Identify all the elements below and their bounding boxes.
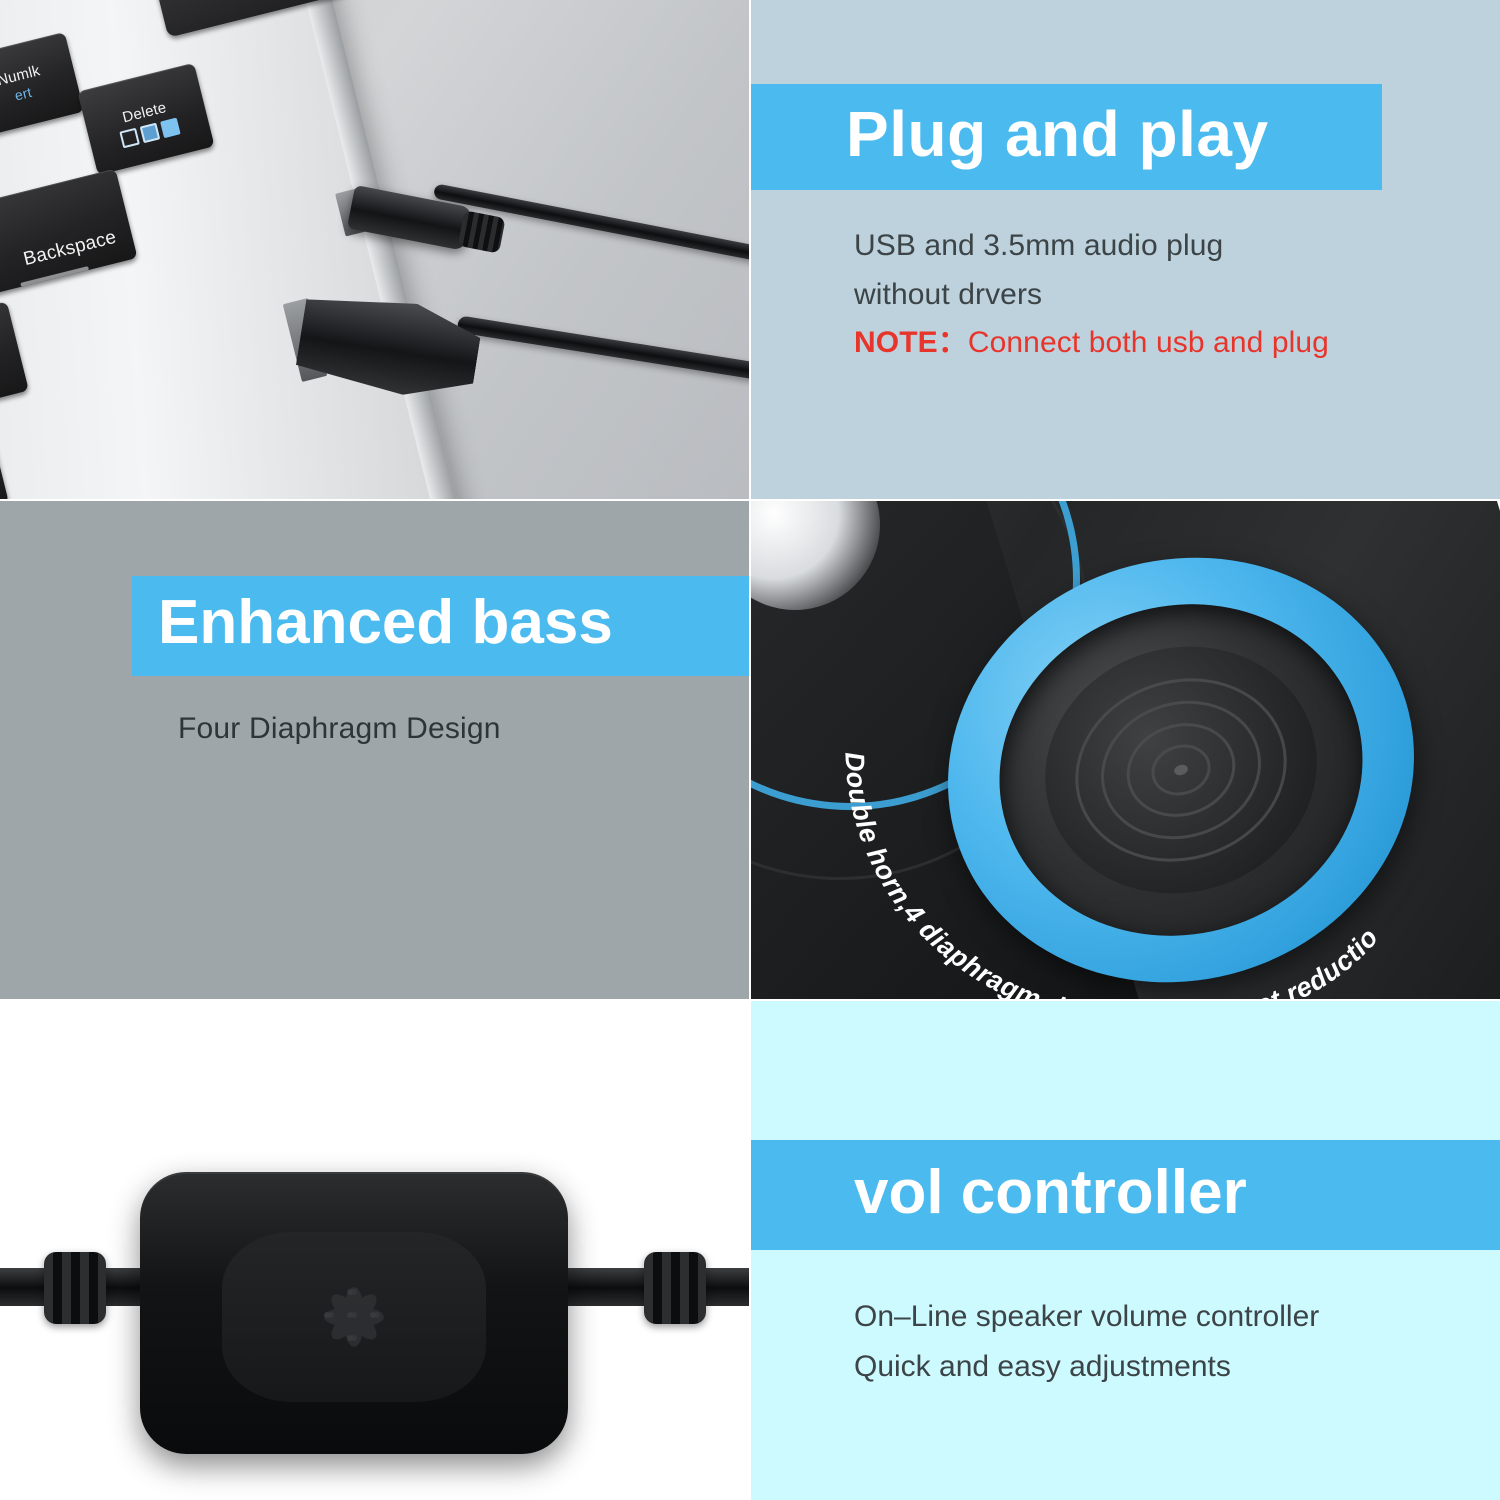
note-keyword: NOTE： <box>854 326 968 359</box>
enhanced-bass-heading: Enhanced bass <box>132 576 750 676</box>
audio-plug-strain-relief <box>458 210 506 253</box>
controller-housing <box>140 1172 568 1454</box>
panel-divider-vertical <box>749 0 751 1500</box>
photo-volume-controller <box>0 1000 750 1500</box>
square-half-icon <box>139 123 160 144</box>
panel-divider-horizontal-top <box>0 499 1500 501</box>
controller-dot-pattern-right <box>324 1289 380 1345</box>
note-text: Connect both usb and plug <box>968 326 1329 359</box>
plug-and-play-line1: USB and 3.5mm audio plug <box>854 222 1454 271</box>
feature-plug-and-play: Plug and play USB and 3.5mm audio plug w… <box>750 0 1500 500</box>
controller-face-plate <box>222 1232 486 1402</box>
vol-controller-line2: Quick and easy adjustments <box>854 1342 1474 1392</box>
square-outline-icon <box>119 128 140 149</box>
vol-controller-line1: On–Line speaker volume controller <box>854 1292 1474 1342</box>
feature-enhanced-bass: Enhanced bass Four Diaphragm Design <box>0 500 750 1000</box>
laptop-side-edge <box>261 0 475 500</box>
feature-vol-controller: vol controller On–Line speaker volume co… <box>750 1000 1500 1500</box>
key-insert-label: ert <box>13 84 34 105</box>
plug-and-play-body: USB and 3.5mm audio plug without drvers … <box>854 222 1454 368</box>
vol-controller-heading: vol controller <box>750 1140 1500 1250</box>
panel-divider-horizontal-bottom <box>0 999 1500 1001</box>
controller-strain-relief-left <box>44 1252 106 1324</box>
plug-and-play-line2: without drvers <box>854 271 1454 320</box>
usb-cable <box>457 315 750 405</box>
plug-and-play-heading: Plug and play <box>750 84 1382 190</box>
photo-speaker-driver: Double horn,4 diaphragm design,the perfe… <box>750 500 1500 1000</box>
woofer-cone <box>1014 613 1347 926</box>
enhanced-bass-subtitle: Four Diaphragm Design <box>178 712 501 746</box>
controller-strain-relief-right <box>644 1252 706 1324</box>
vol-controller-body: On–Line speaker volume controller Quick … <box>854 1292 1474 1392</box>
photo-laptop-ports: Numlk ert Delete Backspace <box>0 0 750 500</box>
square-filled-icon <box>160 118 181 139</box>
infographic-sheet: Numlk ert Delete Backspace <box>0 0 1500 1500</box>
plug-and-play-note: NOTE：Connect both usb and plug <box>854 319 1454 368</box>
key-backspace-label: Backspace <box>21 227 118 271</box>
